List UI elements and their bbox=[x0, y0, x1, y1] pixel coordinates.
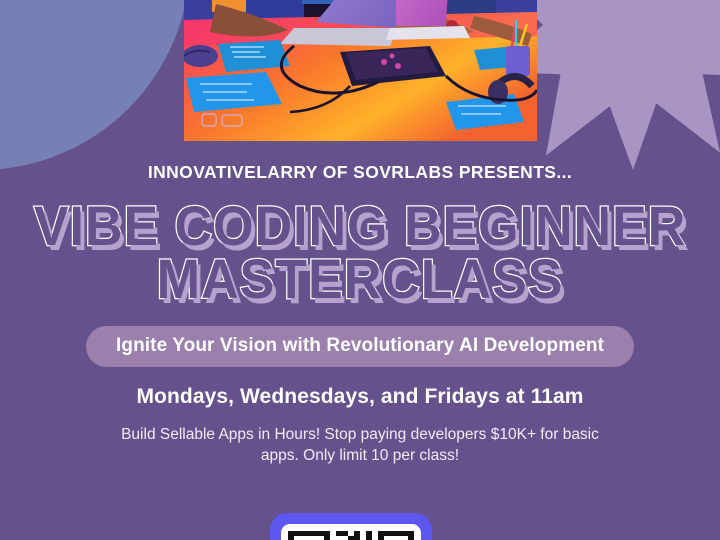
description-text: Build Sellable Apps in Hours! Stop payin… bbox=[117, 425, 603, 467]
blue-wedge-shape-secondary bbox=[662, 0, 720, 44]
schedule-text: Mondays, Wednesdays, and Fridays at 11am bbox=[0, 385, 720, 409]
tagline-container: Ignite Your Vision with Revolutionary AI… bbox=[0, 326, 720, 367]
poster-content: INNOVATIVELARRY OF SOVRLABS PRESENTS... … bbox=[0, 140, 720, 467]
headline-line-2: MASTERCLASS bbox=[25, 252, 695, 305]
qr-code bbox=[288, 531, 414, 540]
qr-code-surface bbox=[281, 524, 421, 540]
poster-canvas: INNOVATIVELARRY OF SOVRLABS PRESENTS... … bbox=[0, 0, 720, 540]
page-title: VIBE CODING BEGINNER MASTERCLASS bbox=[25, 199, 695, 305]
tagline-badge: Ignite Your Vision with Revolutionary AI… bbox=[86, 326, 634, 367]
presenter-line: INNOVATIVELARRY OF SOVRLABS PRESENTS... bbox=[0, 162, 720, 183]
blue-wedge-shape bbox=[594, 0, 714, 46]
qr-code-card[interactable] bbox=[270, 513, 432, 540]
hero-illustration-art bbox=[184, 0, 537, 141]
hero-illustration bbox=[184, 0, 537, 141]
headline-line-1: VIBE CODING BEGINNER bbox=[25, 199, 695, 252]
